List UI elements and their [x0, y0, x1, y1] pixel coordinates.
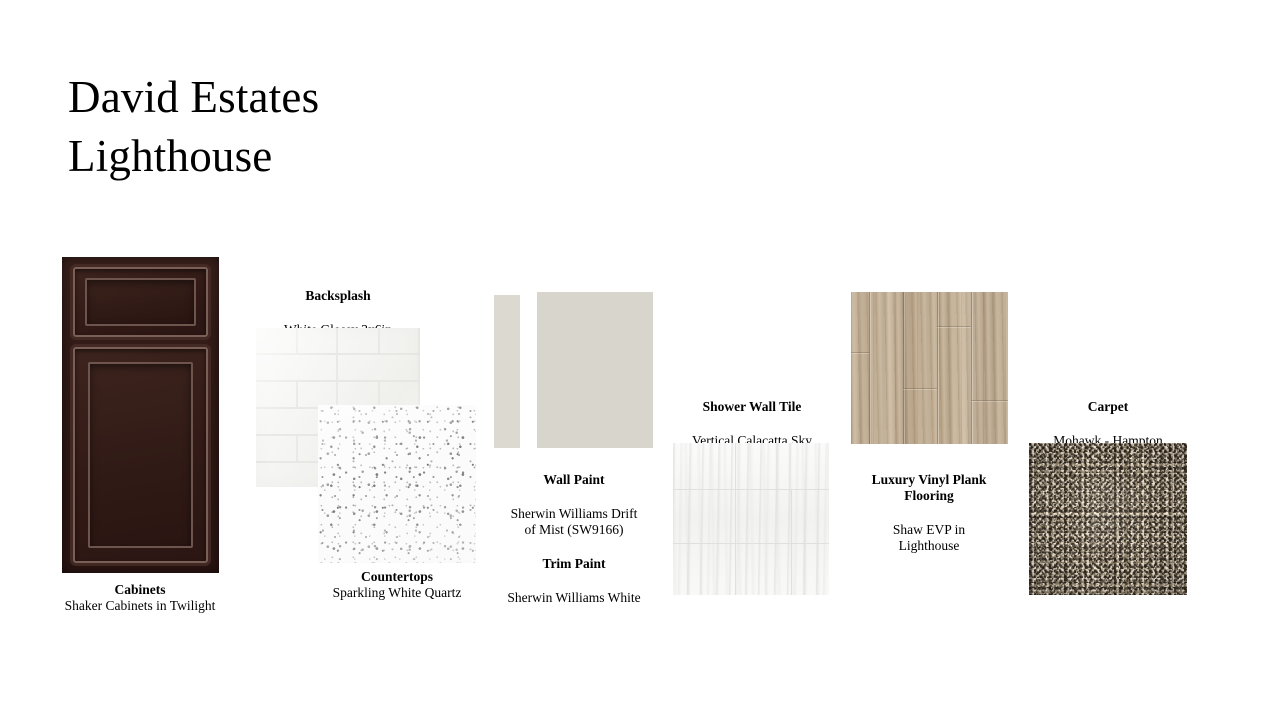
countertops-subtitle: Sparkling White Quartz [302, 585, 492, 601]
cabinet-bottom-panel [73, 347, 208, 563]
cabinets-caption: Cabinets Shaker Cabinets in Twilight [45, 582, 235, 614]
countertops-title: Countertops [302, 569, 492, 585]
plank-seam-vertical [971, 292, 972, 444]
cabinet-bottom-panel-inner [88, 362, 193, 548]
tile-row [256, 355, 420, 380]
plank-seam-horizontal [903, 388, 937, 389]
plank-seam-horizontal [937, 326, 971, 327]
trim-paint-title: Trim Paint [479, 556, 669, 572]
wall-paint-swatch [537, 292, 653, 448]
cabinet-top-panel-inner [85, 278, 196, 326]
luxury-vinyl-plank-swatch [851, 292, 1008, 444]
carpet-shading [1029, 443, 1187, 595]
plank-seams [851, 292, 1008, 444]
tile-seam-horizontal [673, 489, 829, 490]
carpet-title: Carpet [1013, 399, 1203, 415]
wall-paint-title: Wall Paint [479, 472, 669, 488]
plank-seam-horizontal [851, 352, 869, 353]
backsplash-title: Backsplash [244, 288, 432, 304]
luxury-vinyl-plank-caption: Luxury Vinyl Plank Flooring Shaw EVP in … [853, 454, 1005, 572]
plank-seam-vertical [869, 292, 870, 444]
quartz-sheen [318, 405, 476, 563]
cabinets-subtitle: Shaker Cabinets in Twilight [45, 598, 235, 614]
shower-wall-tile-swatch [673, 443, 829, 595]
tile-row [256, 382, 420, 407]
tile-row [256, 328, 420, 353]
cabinets-swatch [62, 257, 219, 573]
tile-seam-horizontal [673, 543, 829, 544]
wall-trim-paint-caption: Wall Paint Sherwin Williams Drift of Mis… [479, 454, 669, 624]
tile-seam-vertical [791, 489, 792, 595]
countertops-caption: Countertops Sparkling White Quartz [302, 569, 492, 601]
countertops-swatch [318, 405, 476, 563]
trim-paint-subtitle: Sherwin Williams White [479, 590, 669, 606]
tile-seam-vertical [735, 443, 736, 595]
carpet-swatch [1029, 443, 1187, 595]
wall-paint-subtitle: Sherwin Williams Drift of Mist (SW9166) [479, 506, 669, 538]
cabinet-top-panel [73, 267, 208, 337]
plank-seam-horizontal [971, 400, 1008, 401]
plank-seam-vertical [903, 292, 904, 444]
page-title: David Estates Lighthouse [68, 68, 688, 186]
luxury-vinyl-plank-subtitle: Shaw EVP in Lighthouse [853, 522, 1005, 554]
plank-seam-vertical [937, 292, 938, 444]
trim-paint-swatch [494, 295, 520, 448]
shower-wall-tile-title: Shower Wall Tile [657, 399, 847, 415]
tile-seams [673, 443, 829, 595]
cabinets-title: Cabinets [45, 582, 235, 598]
luxury-vinyl-plank-title: Luxury Vinyl Plank Flooring [853, 472, 1005, 504]
